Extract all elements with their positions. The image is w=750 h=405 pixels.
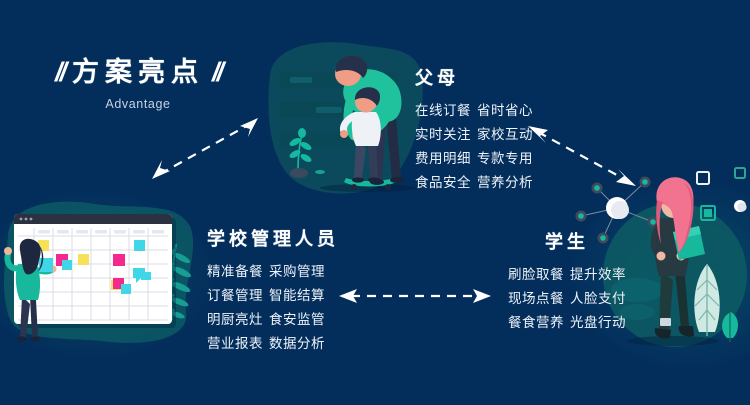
row-left: 刷脸取餐 [508, 263, 570, 283]
list-item: 食品安全 营养分析 [415, 171, 533, 191]
group-student: 学生 刷脸取餐 提升效率 现场点餐 人脸支付 餐食营养 光盘行动 [508, 228, 626, 331]
row-right: 人脸支付 [570, 287, 626, 307]
row-right: 提升效率 [570, 263, 626, 283]
page-title: 方案亮点 [72, 58, 204, 88]
section-heading: // 方案亮点 // Advantage [38, 58, 238, 111]
row-right: 省时省心 [477, 99, 533, 119]
row-right: 采购管理 [269, 260, 325, 280]
row-left: 实时关注 [415, 123, 477, 143]
list-item: 精准备餐 采购管理 [207, 260, 339, 280]
group-student-title: 学生 [508, 228, 626, 254]
heading-title-line: // 方案亮点 // [38, 58, 238, 88]
row-left: 精准备餐 [207, 260, 269, 280]
list-item: 实时关注 家校互动 [415, 123, 533, 143]
row-left: 明厨亮灶 [207, 308, 269, 328]
illustration-parent-child [258, 30, 428, 205]
group-school-admin: 学校管理人员 精准备餐 采购管理 订餐管理 智能结算 明厨亮灶 食安监管 营业报… [207, 225, 339, 352]
row-right: 光盘行动 [570, 311, 626, 331]
row-left: 费用明细 [415, 147, 477, 167]
row-left: 营业报表 [207, 332, 269, 352]
row-left: 餐食营养 [508, 311, 570, 331]
list-item: 明厨亮灶 食安监管 [207, 308, 339, 328]
square-icon-group [697, 168, 747, 220]
illustration-school-board [0, 196, 200, 346]
list-item: 营业报表 数据分析 [207, 332, 339, 352]
list-item: 刷脸取餐 提升效率 [508, 263, 626, 283]
row-left: 食品安全 [415, 171, 477, 191]
group-school-admin-title: 学校管理人员 [207, 225, 339, 251]
arrow-school-to-parent [140, 108, 270, 188]
slide-canvas: // 方案亮点 // Advantage [0, 0, 750, 405]
row-right: 智能结算 [269, 284, 325, 304]
row-left: 在线订餐 [415, 99, 477, 119]
group-parent-rows: 在线订餐 省时省心 实时关注 家校互动 费用明细 专款专用 食品安全 营养分析 [415, 99, 533, 191]
list-item: 费用明细 专款专用 [415, 147, 533, 167]
row-right: 营养分析 [477, 171, 533, 191]
row-right: 食安监管 [269, 308, 325, 328]
list-item: 在线订餐 省时省心 [415, 99, 533, 119]
row-left: 订餐管理 [207, 284, 269, 304]
row-right: 数据分析 [269, 332, 325, 352]
row-right: 专款专用 [477, 147, 533, 167]
slash-left-icon: // [55, 59, 64, 86]
group-student-rows: 刷脸取餐 提升效率 现场点餐 人脸支付 餐食营养 光盘行动 [508, 263, 626, 331]
slash-right-icon: // [212, 59, 221, 86]
arrow-parent-to-student [518, 118, 648, 198]
group-parent-title: 父母 [415, 64, 533, 90]
group-parent: 父母 在线订餐 省时省心 实时关注 家校互动 费用明细 专款专用 食品安全 营养… [415, 64, 533, 191]
group-school-admin-rows: 精准备餐 采购管理 订餐管理 智能结算 明厨亮灶 食安监管 营业报表 数据分析 [207, 260, 339, 352]
list-item: 订餐管理 智能结算 [207, 284, 339, 304]
row-right: 家校互动 [477, 123, 533, 143]
list-item: 餐食营养 光盘行动 [508, 311, 626, 331]
list-item: 现场点餐 人脸支付 [508, 287, 626, 307]
row-left: 现场点餐 [508, 287, 570, 307]
arrow-school-to-student [335, 285, 495, 307]
